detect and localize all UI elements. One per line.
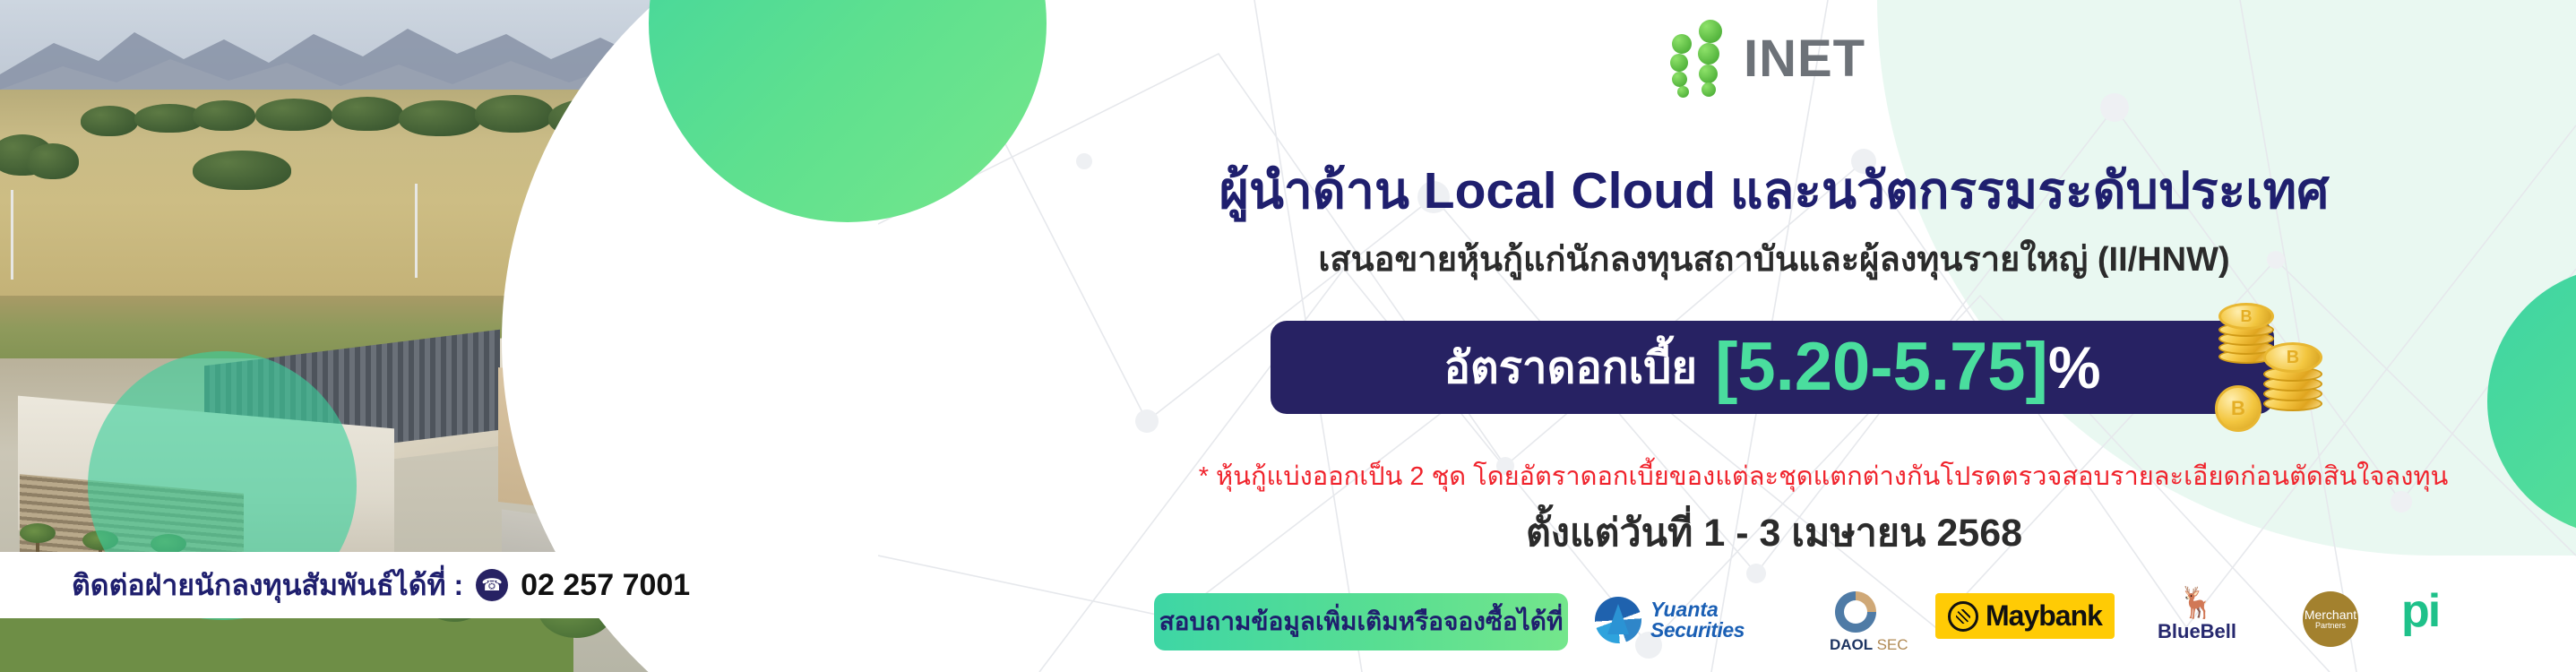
yuanta-line2: Securities [1650, 620, 1745, 641]
partner-logo-daol[interactable]: DAOL SEC [1835, 591, 1876, 633]
partner-logo-merchant[interactable]: Merchant Partners [2303, 591, 2358, 647]
maybank-tiger-icon [1948, 601, 1978, 632]
yuanta-star-icon [1595, 597, 1641, 643]
interest-rate-box: อัตราดอกเบี้ย [5.20-5.75] % [1271, 321, 2274, 414]
contact-label: ติดต่อฝ่ายนักลงทุนสัมพันธ์ได้ที่ : [72, 563, 463, 608]
merchant-line2: Partners [2315, 622, 2346, 630]
phone-icon: ☎ [476, 569, 508, 601]
daol-circle-icon [1835, 591, 1876, 633]
merchant-line1: Merchant [2305, 608, 2356, 622]
pi-logo-icon: pi [2401, 593, 2439, 631]
bluebell-wordmark: BlueBell [2158, 620, 2236, 643]
partner-logo-pi[interactable]: pi [2401, 593, 2439, 631]
inet-bond-promo-banner: INET ผู้นำด้าน Local Cloud และนวัตกรรมระ… [0, 0, 2576, 672]
green-dots-icon [1668, 20, 1738, 91]
partner-logo-yuanta[interactable]: Yuanta Securities [1595, 597, 1745, 643]
inet-wordmark: INET [1744, 29, 1865, 89]
partner-logos: Yuanta Securities DAOL SEC Maybank 🦌 Blu… [1595, 581, 2536, 667]
page-title: ผู้นำด้าน Local Cloud และนวัตกรรมระดับปร… [1192, 151, 2356, 231]
bluebell-deer-icon: 🦌 [2178, 588, 2216, 618]
photo-pole [11, 190, 13, 280]
daol-wordmark: DAOL SEC [1830, 636, 1908, 654]
gold-coin-stack-icon: B B B [2215, 303, 2331, 437]
interest-rate-value: [5.20-5.75] [1715, 333, 2048, 401]
interest-rate-label: อัตราดอกเบี้ย [1443, 332, 1697, 402]
daol-line2: SEC [1877, 636, 1908, 653]
investor-relations-contact-card: ติดต่อฝ่ายนักลงทุนสัมพันธ์ได้ที่ : ☎ 02 … [0, 552, 842, 618]
footnote-text: * หุ้นกู้แบ่งออกเป็น 2 ชุด โดยอัตราดอกเบ… [1124, 455, 2522, 496]
photo-pole [415, 184, 418, 278]
inet-logo: INET [1668, 16, 1937, 91]
subscribe-cta-button[interactable]: สอบถามข้อมูลเพิ่มเติมหรือจองซื้อได้ที่ [1154, 593, 1568, 650]
maybank-wordmark: Maybank [1986, 599, 2102, 633]
contact-phone-number[interactable]: 02 257 7001 [521, 568, 690, 603]
daol-line1: DAOL [1830, 636, 1873, 653]
page-subtitle: เสนอขายหุ้นกู้แก่นักลงทุนสถาบันและผู้ลงท… [1192, 231, 2356, 286]
interest-rate-percent: % [2048, 338, 2101, 397]
partner-logo-maybank[interactable]: Maybank [1935, 593, 2115, 639]
partner-logo-bluebell[interactable]: 🦌 BlueBell [2158, 588, 2236, 643]
yuanta-line1: Yuanta [1650, 599, 1745, 620]
offering-dateline: ตั้งแต่วันที่ 1 - 3 เมษายน 2568 [1192, 502, 2356, 563]
